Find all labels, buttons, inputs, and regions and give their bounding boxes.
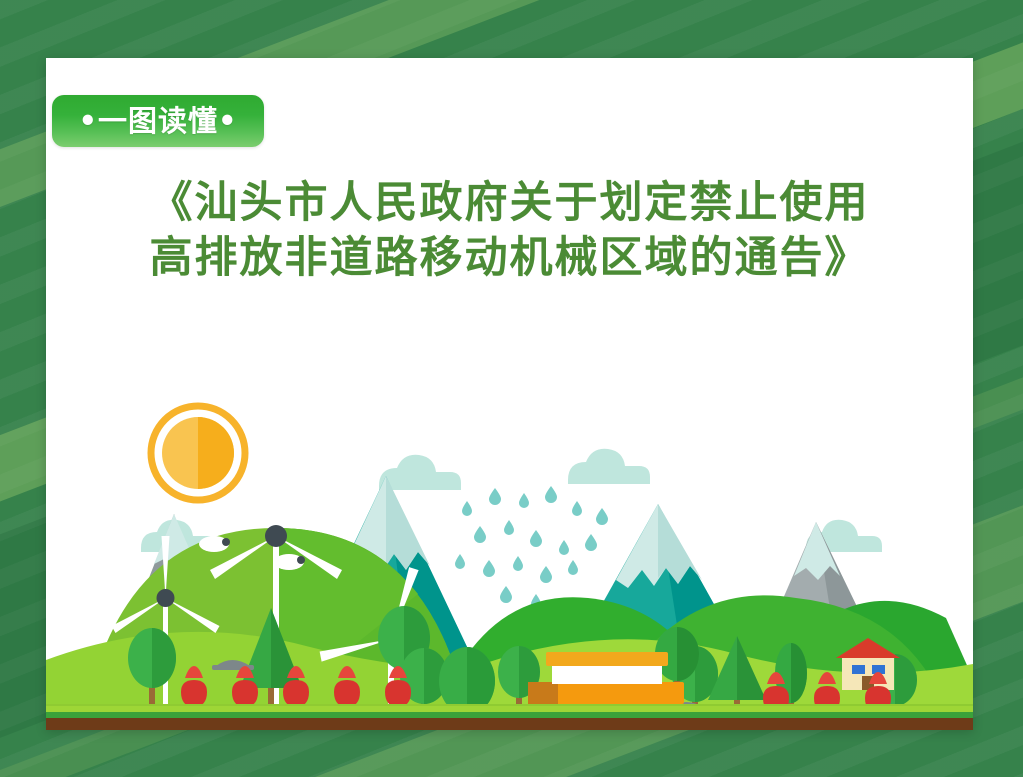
lawn-edge [46,704,973,706]
soil-strip [46,718,973,730]
sun-icon [151,406,245,500]
badge-label: •一图读懂• [78,107,237,136]
eco-landscape-illustration [46,308,973,730]
page-title-line-1: 《汕头市人民政府关于划定禁止使用 [46,176,973,231]
read-in-one-picture-badge: •一图读懂• [52,95,264,147]
page-title-line-2: 高排放非道路移动机械区域的通告》 [46,231,973,286]
page-title: 《汕头市人民政府关于划定禁止使用 高排放非道路移动机械区域的通告》 [46,176,973,286]
page-root: •一图读懂• 《汕头市人民政府关于划定禁止使用 高排放非道路移动机械区域的通告》 [0,0,1023,777]
content-card: •一图读懂• 《汕头市人民政府关于划定禁止使用 高排放非道路移动机械区域的通告》 [46,58,973,730]
